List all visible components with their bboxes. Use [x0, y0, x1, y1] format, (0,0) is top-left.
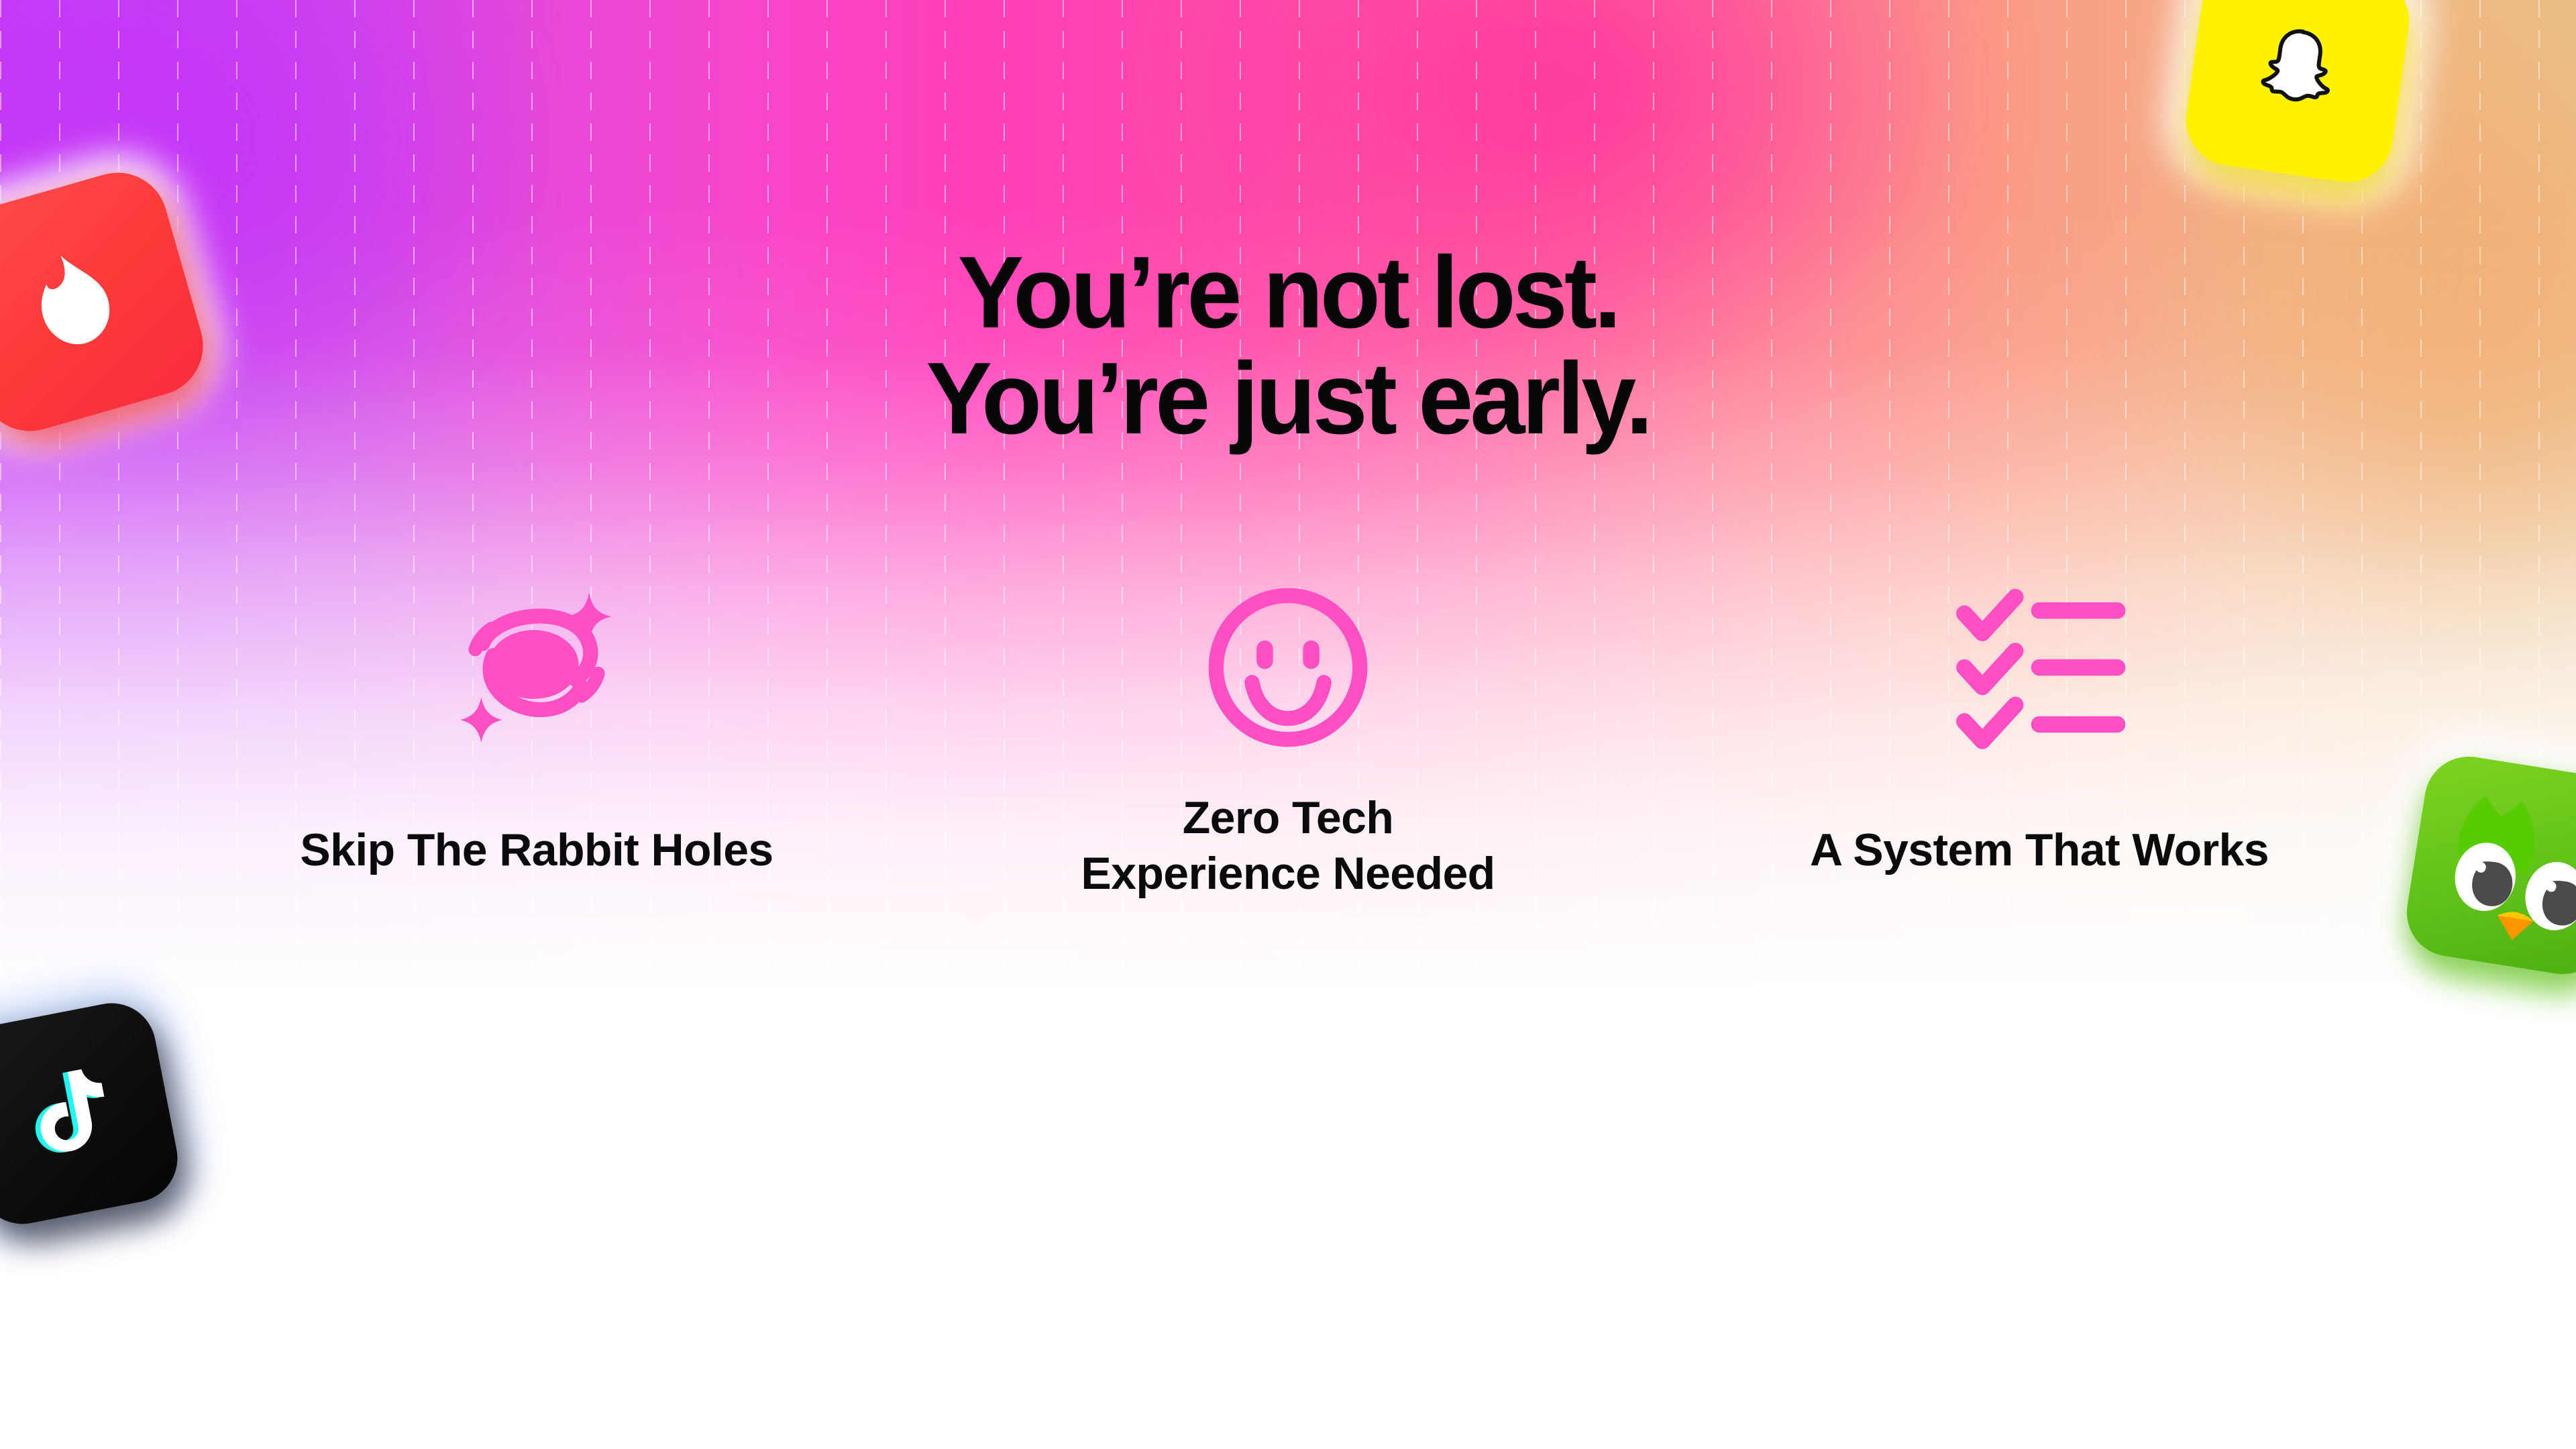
feature-item-skip-the-rabbit-holes: Skip The Rabbit Holes: [201, 577, 872, 878]
checklist-icon-svg: [1949, 578, 2129, 757]
duolingo-owl-icon: [2400, 750, 2576, 980]
headline-line-2: You’re just early.: [39, 345, 2538, 451]
smiley-face-icon: [1198, 577, 1378, 758]
snapchat-ghost-icon: [2241, 13, 2354, 127]
snapchat-app-icon: [2180, 0, 2415, 188]
feature-label-zero-tech-experience-needed: Zero Tech Experience Needed: [1081, 790, 1495, 902]
checklist-icon: [1949, 577, 2129, 758]
duolingo-app-icon: [2400, 750, 2576, 980]
galaxy-sparkle-icon-svg: [447, 578, 627, 757]
galaxy-sparkle-icon: [447, 577, 627, 758]
hero-section: You’re not lost. You’re just early. Ski: [0, 0, 2576, 1449]
hero-headline: You’re not lost. You’re just early.: [39, 239, 2538, 451]
tiktok-app-icon: [0, 996, 185, 1232]
tiktok-note-icon: [4, 1051, 130, 1177]
smiley-face-icon-svg: [1198, 578, 1378, 757]
feature-item-a-system-that-works: A System That Works: [1704, 577, 2375, 878]
duolingo-icon-tile: [2400, 750, 2576, 980]
feature-item-zero-tech-experience-needed: Zero Tech Experience Needed: [953, 577, 1623, 902]
headline-line-1: You’re not lost.: [39, 239, 2538, 345]
feature-label-a-system-that-works: A System That Works: [1810, 822, 2269, 878]
snapchat-icon-tile: [2180, 0, 2415, 188]
feature-list: Skip The Rabbit Holes Zero Tech Experien…: [201, 577, 2375, 902]
feature-label-skip-the-rabbit-holes: Skip The Rabbit Holes: [300, 822, 773, 878]
